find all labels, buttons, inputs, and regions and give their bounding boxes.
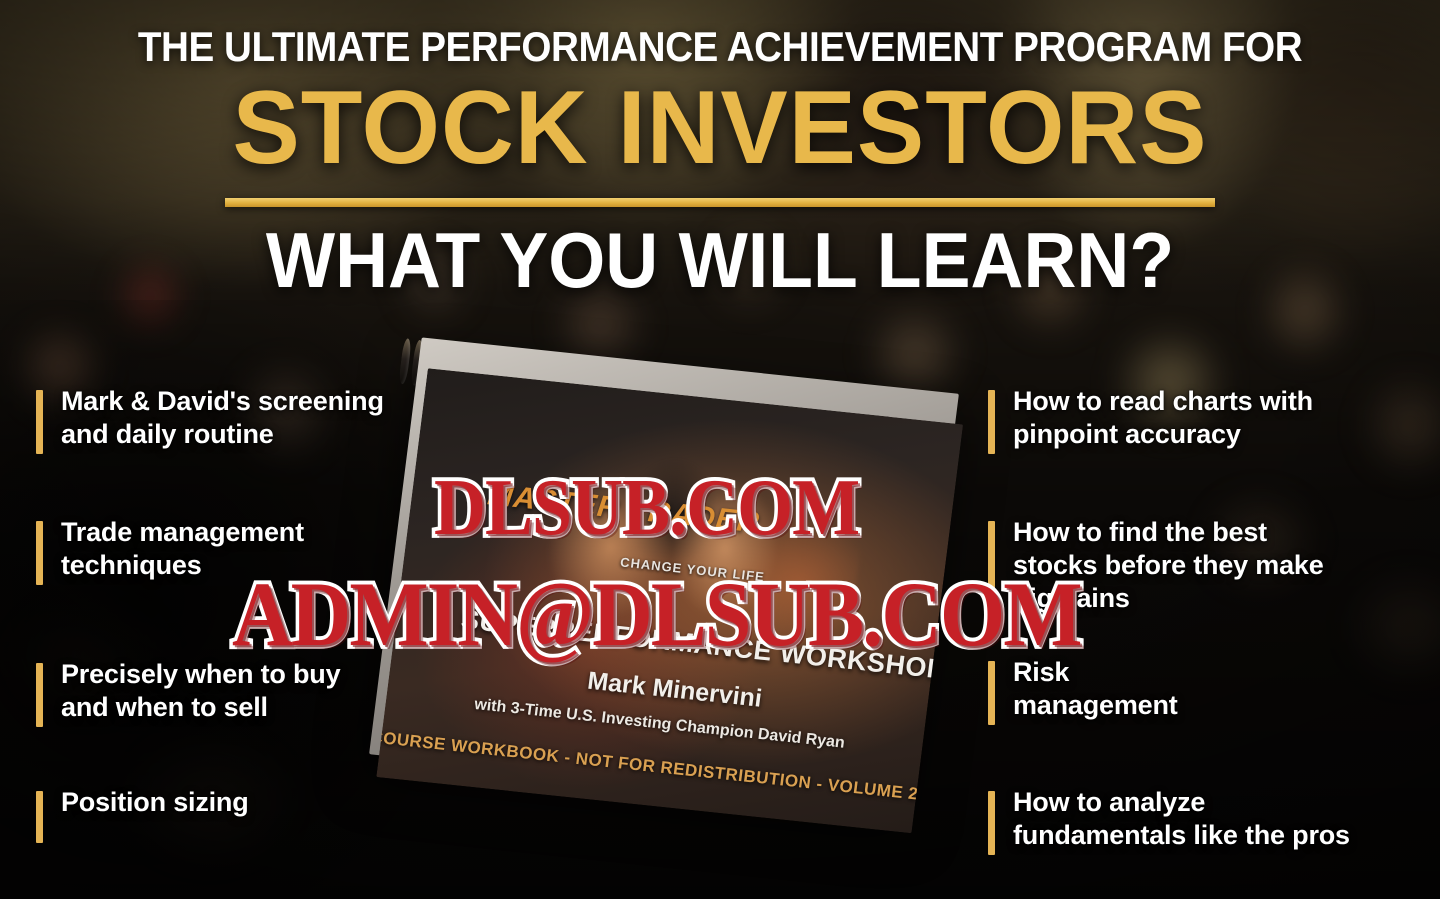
feature-list: Mark & David's screening and daily routi… [0, 0, 1440, 899]
bullet-marker-icon [36, 390, 43, 454]
list-item-label: Precisely when to buy and when to sell [61, 658, 340, 724]
list-item-label: Mark & David's screening and daily routi… [61, 385, 384, 451]
list-item-label: How to read charts with pinpoint accurac… [1013, 385, 1313, 451]
list-item: How to analyze fundamentals like the pro… [988, 786, 1418, 855]
bullet-marker-icon [988, 791, 995, 855]
bullet-marker-icon [36, 521, 43, 585]
watermark-email: ADMIN@DLSUB.COM [232, 561, 1080, 668]
list-item: How to read charts with pinpoint accurac… [988, 385, 1418, 454]
bullet-marker-icon [988, 390, 995, 454]
watermark-site: DLSUB.COM [434, 461, 859, 554]
list-item-label: Position sizing [61, 786, 249, 819]
bullet-marker-icon [988, 661, 995, 725]
list-item: Precisely when to buy and when to sell [36, 658, 456, 727]
bullet-marker-icon [36, 663, 43, 727]
list-item: Position sizing [36, 786, 456, 843]
bullet-marker-icon [36, 791, 43, 843]
list-item-label: How to analyze fundamentals like the pro… [1013, 786, 1350, 852]
list-item: Mark & David's screening and daily routi… [36, 385, 456, 454]
promo-poster: THE ULTIMATE PERFORMANCE ACHIEVEMENT PRO… [0, 0, 1440, 899]
